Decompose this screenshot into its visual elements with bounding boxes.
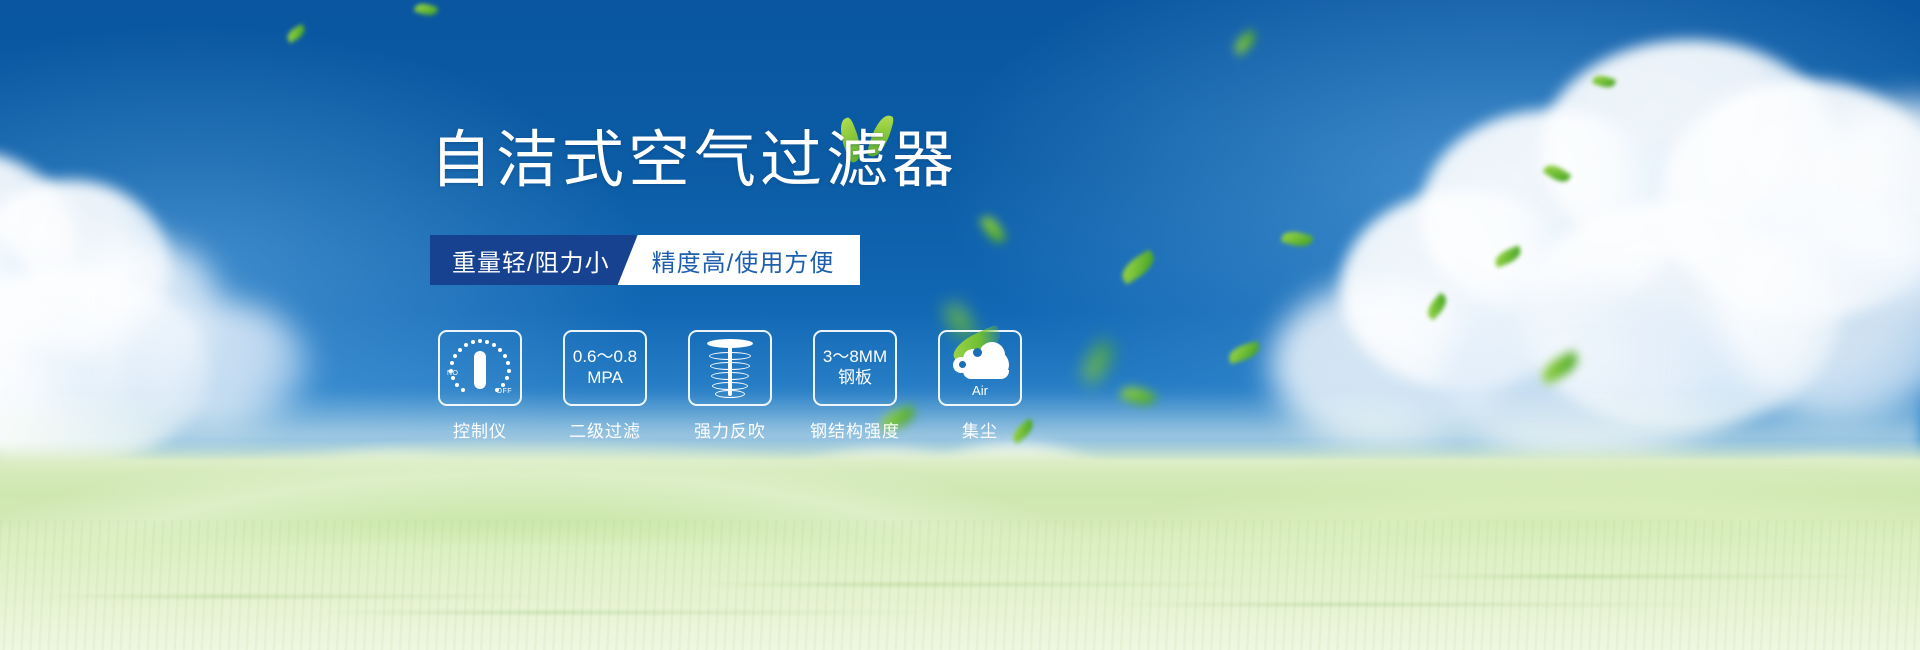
feature-strong-backblow: 强力反吹 <box>680 330 780 442</box>
gauge-on-label: NO <box>447 370 459 377</box>
feature-box-controller: NO OFF <box>438 330 522 406</box>
promotional-banner: 自洁式空气过滤器 重量轻/阻力小 精度高/使用方便 <box>0 0 1920 650</box>
feature-caption-filtration: 二级过滤 <box>569 417 641 442</box>
feature-caption-backblow: 强力反吹 <box>694 417 766 442</box>
air-label: Air <box>947 383 1013 398</box>
feature-caption-dust: 集尘 <box>962 417 998 442</box>
feature-caption-controller: 控制仪 <box>453 417 507 442</box>
feature-box-steel: 3～8MM 钢板 <box>813 330 897 406</box>
feature-two-stage-filtration: 0.6～0.8 MPA 二级过滤 <box>555 330 655 442</box>
feature-controller: NO OFF 控制仪 <box>430 330 530 442</box>
pressure-value-line2: MPA <box>587 368 623 389</box>
air-cloud-icon: Air <box>947 340 1013 396</box>
badge-lightweight-lowresistance: 重量轻/阻力小 <box>430 235 636 285</box>
banner-content: 自洁式空气过滤器 重量轻/阻力小 精度高/使用方便 <box>0 0 1920 650</box>
feature-box-air: Air <box>938 330 1022 406</box>
gauge-off-label: OFF <box>497 388 513 395</box>
feature-steel-strength: 3～8MM 钢板 钢结构强度 <box>805 330 905 442</box>
feature-box-backblow <box>688 330 772 406</box>
steel-value-line1: 3～8MM <box>823 347 887 368</box>
filter-stack-icon <box>701 338 759 398</box>
steel-value-line2: 钢板 <box>838 368 872 389</box>
feature-caption-steel: 钢结构强度 <box>810 417 900 442</box>
pressure-value-line1: 0.6～0.8 <box>573 347 637 368</box>
gauge-dial-icon: NO OFF <box>449 339 511 397</box>
feature-badges: 重量轻/阻力小 精度高/使用方便 <box>430 235 860 285</box>
feature-dust-collection: Air 集尘 <box>930 330 1030 442</box>
feature-box-pressure: 0.6～0.8 MPA <box>563 330 647 406</box>
banner-title: 自洁式空气过滤器 <box>430 130 958 192</box>
feature-icon-row: NO OFF 控制仪 0.6～0.8 MPA 二级过滤 <box>430 330 1030 442</box>
badge-highprecision-easyuse: 精度高/使用方便 <box>618 235 861 285</box>
